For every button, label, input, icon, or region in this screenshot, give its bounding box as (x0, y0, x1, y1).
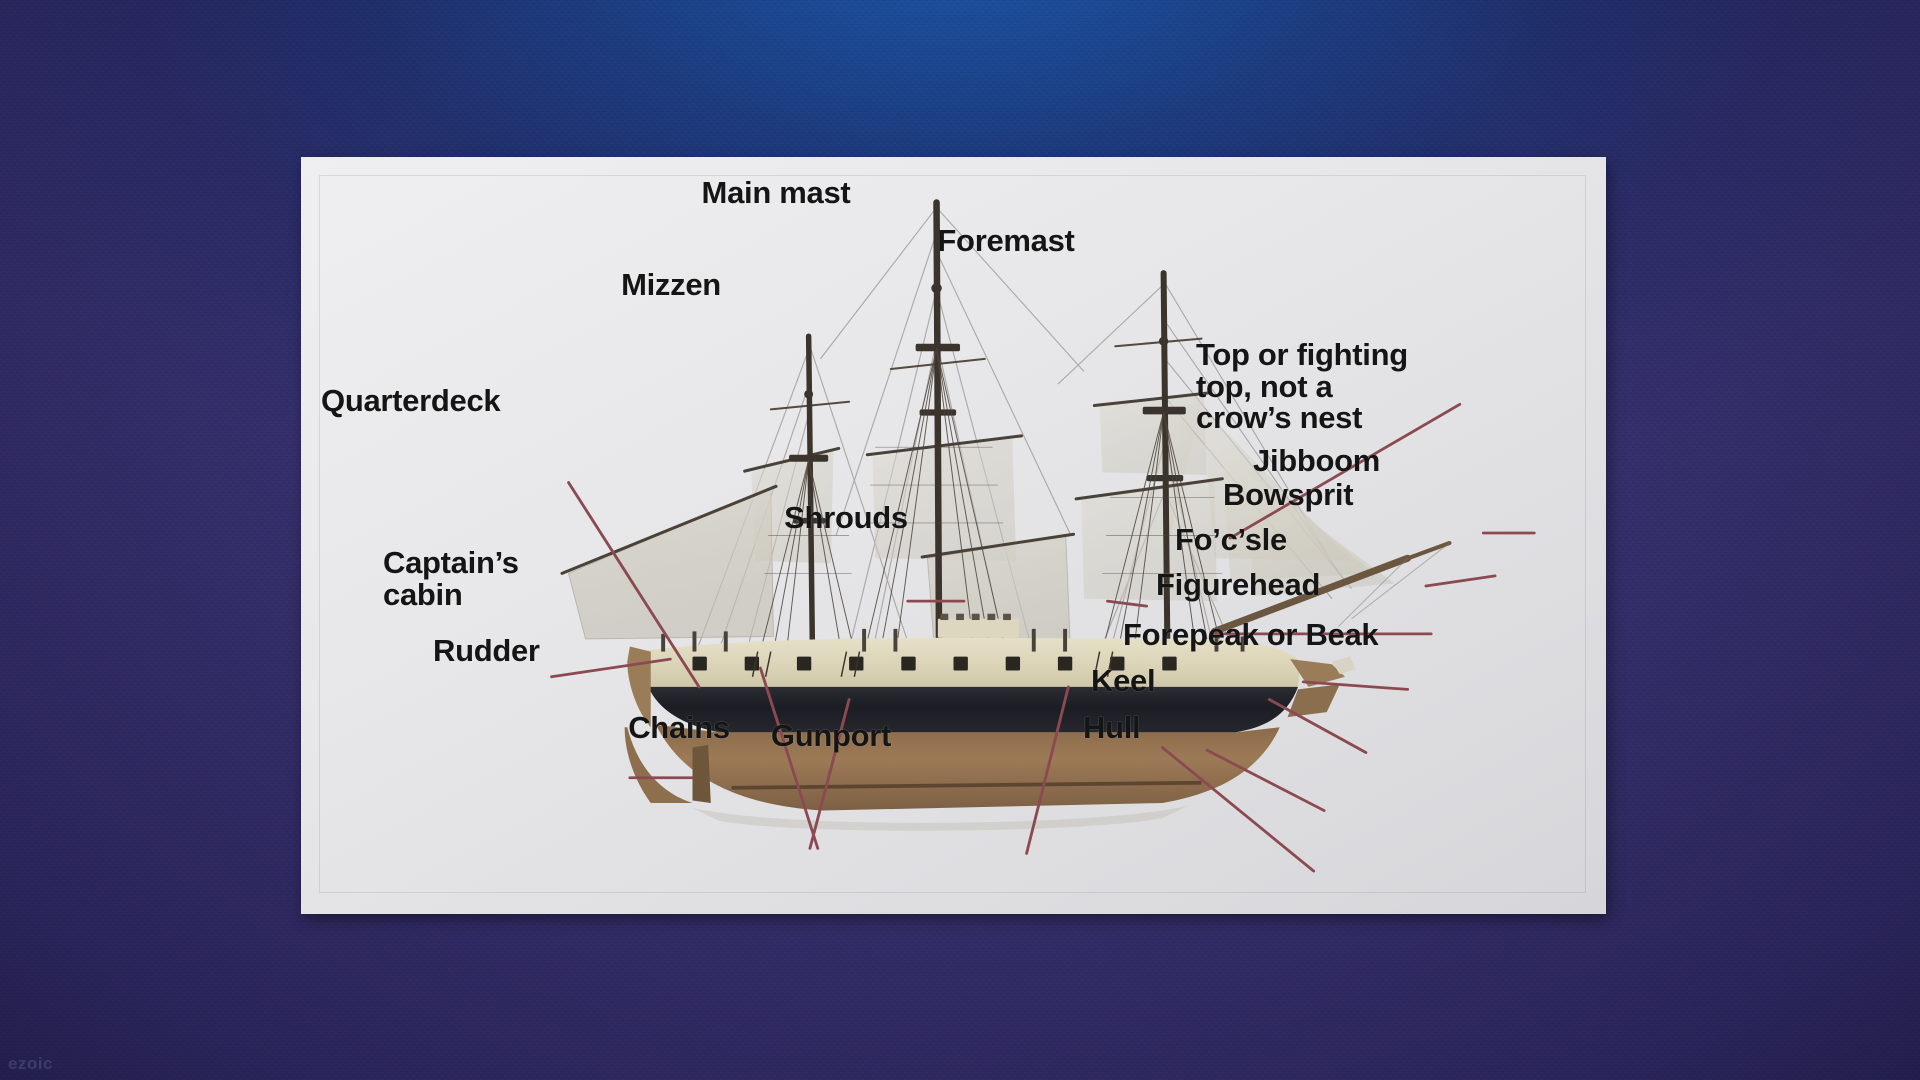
ezoic-watermark: ezoic (8, 1054, 53, 1074)
label-bowsprit: Bowsprit (1223, 479, 1353, 511)
label-chains: Chains (628, 712, 730, 744)
leader-keel (1207, 750, 1324, 811)
label-main-mast: Main mast (702, 177, 851, 209)
label-shrouds: Shrouds (784, 502, 908, 534)
screen: ezoic (0, 0, 1920, 1080)
leader-gunport (1027, 687, 1069, 854)
label-hull: Hull (1083, 712, 1140, 744)
label-top-or-fighting-top: Top or fighting top, not a crow’s nest (1196, 339, 1456, 434)
leader-quarterdeck (569, 483, 700, 687)
ship-diagram: Main mast Foremast Mizzen Top or fightin… (301, 157, 1606, 914)
leader-shrouds-right (1107, 601, 1146, 606)
label-forepeak-or-beak: Forepeak or Beak (1123, 619, 1378, 651)
label-captains-cabin: Captain’s cabin (383, 547, 519, 610)
label-keel: Keel (1091, 665, 1155, 697)
slide-panel: Main mast Foremast Mizzen Top or fightin… (301, 157, 1606, 914)
leader-chains-b (760, 668, 817, 848)
leader-figurehead (1303, 682, 1407, 690)
leader-bowsprit (1426, 576, 1495, 586)
leader-lines (301, 157, 1606, 914)
label-figurehead: Figurehead (1156, 569, 1320, 601)
label-rudder: Rudder (433, 635, 540, 667)
label-quarterdeck: Quarterdeck (321, 385, 500, 417)
leader-captains-cabin (552, 659, 671, 677)
label-mizzen: Mizzen (621, 269, 721, 301)
label-jibboom: Jibboom (1253, 445, 1380, 477)
label-foremast: Foremast (937, 225, 1074, 257)
label-gunport: Gunport (771, 720, 891, 752)
label-focsle: Fo’c’sle (1175, 524, 1287, 556)
leader-forepeak (1269, 700, 1366, 753)
